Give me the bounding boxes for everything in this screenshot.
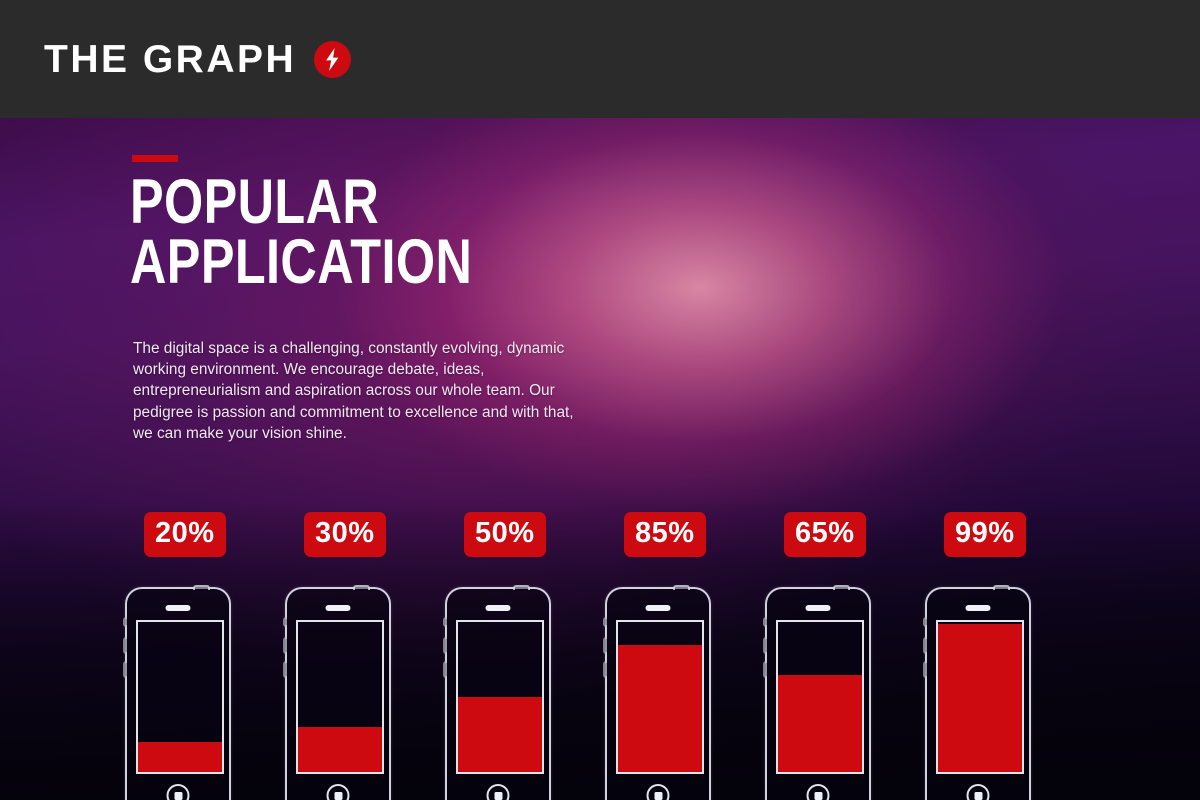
home-button-square — [174, 792, 182, 800]
volume-button-icon — [283, 617, 287, 627]
earpiece-speaker-icon — [966, 605, 991, 611]
home-button-icon[interactable] — [327, 784, 350, 800]
phone-screen — [296, 620, 384, 774]
page-root: THE GRAPH POPULAR APPLICATION The digita… — [0, 0, 1200, 800]
volume-button-icon — [283, 637, 287, 654]
home-button-icon[interactable] — [647, 784, 670, 800]
volume-button-icon — [123, 661, 127, 678]
phone-gauge-icon[interactable] — [285, 587, 391, 800]
volume-button-icon — [603, 617, 607, 627]
percentage-badge[interactable]: 65% — [784, 512, 866, 557]
percentage-badge[interactable]: 30% — [304, 512, 386, 557]
phone-screen — [136, 620, 224, 774]
percentage-badge[interactable]: 50% — [464, 512, 546, 557]
earpiece-speaker-icon — [646, 605, 671, 611]
phone-gauge-icon[interactable] — [605, 587, 711, 800]
phone-screen — [936, 620, 1024, 774]
phone-gauge-icon[interactable] — [925, 587, 1031, 800]
home-button-square — [334, 792, 342, 800]
phone-body — [125, 587, 231, 800]
home-button-icon[interactable] — [167, 784, 190, 800]
phone-body — [445, 587, 551, 800]
power-button-icon — [673, 585, 690, 590]
percentage-badge[interactable]: 20% — [144, 512, 226, 557]
earpiece-speaker-icon — [166, 605, 191, 611]
lightning-bolt-icon — [314, 41, 351, 78]
home-button-icon[interactable] — [967, 784, 990, 800]
gauge-fill — [138, 742, 222, 772]
top-header-bar: THE GRAPH — [0, 0, 1200, 118]
volume-button-icon — [923, 637, 927, 654]
gauge-fill — [938, 624, 1022, 773]
phone-body — [285, 587, 391, 800]
hero-background: POPULAR APPLICATION The digital space is… — [0, 118, 1200, 800]
phone-body — [925, 587, 1031, 800]
earpiece-speaker-icon — [806, 605, 831, 611]
gauge-fill — [618, 645, 702, 773]
home-button-square — [654, 792, 662, 800]
volume-button-icon — [443, 617, 447, 627]
phone-screen — [776, 620, 864, 774]
power-button-icon — [993, 585, 1010, 590]
phone-gauge-chart: 20%30%50%85%65%99% — [0, 118, 1200, 800]
volume-button-icon — [123, 617, 127, 627]
volume-button-icon — [763, 617, 767, 627]
earpiece-speaker-icon — [326, 605, 351, 611]
power-button-icon — [833, 585, 850, 590]
volume-button-icon — [123, 637, 127, 654]
power-button-icon — [193, 585, 210, 590]
phone-screen — [616, 620, 704, 774]
volume-button-icon — [763, 661, 767, 678]
volume-button-icon — [443, 661, 447, 678]
home-button-square — [974, 792, 982, 800]
home-button-icon[interactable] — [807, 784, 830, 800]
volume-button-icon — [283, 661, 287, 678]
phone-gauge-icon[interactable] — [125, 587, 231, 800]
home-button-square — [494, 792, 502, 800]
volume-button-icon — [923, 661, 927, 678]
volume-button-icon — [603, 661, 607, 678]
gauge-fill — [298, 727, 382, 772]
volume-button-icon — [763, 637, 767, 654]
brand-logo[interactable]: THE GRAPH — [44, 40, 351, 79]
volume-button-icon — [603, 637, 607, 654]
volume-button-icon — [923, 617, 927, 627]
gauge-fill — [778, 675, 862, 773]
power-button-icon — [353, 585, 370, 590]
earpiece-speaker-icon — [486, 605, 511, 611]
power-button-icon — [513, 585, 530, 590]
volume-button-icon — [443, 637, 447, 654]
brand-name: THE GRAPH — [44, 40, 296, 79]
percentage-badge[interactable]: 85% — [624, 512, 706, 557]
phone-gauge-icon[interactable] — [445, 587, 551, 800]
percentage-badge[interactable]: 99% — [944, 512, 1026, 557]
home-button-square — [814, 792, 822, 800]
phone-body — [765, 587, 871, 800]
gauge-fill — [458, 697, 542, 772]
phone-gauge-icon[interactable] — [765, 587, 871, 800]
home-button-icon[interactable] — [487, 784, 510, 800]
phone-body — [605, 587, 711, 800]
phone-screen — [456, 620, 544, 774]
